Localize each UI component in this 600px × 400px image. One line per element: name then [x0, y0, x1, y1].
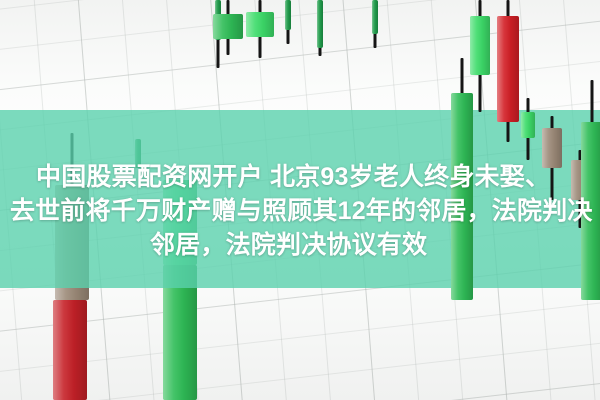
candlestick-body: [317, 0, 323, 48]
candlestick-body: [542, 128, 562, 168]
candlestick-body: [246, 12, 274, 37]
candlestick-body: [521, 112, 535, 138]
candlestick-body: [470, 16, 490, 75]
candlestick: [542, 0, 562, 400]
news-thumbnail-canvas: 中国股票配资网开户 北京93岁老人终身未娶、 去世前将千万财产赠与照顾其12年的…: [0, 0, 600, 400]
candlestick-body: [581, 122, 600, 300]
candlestick-body: [372, 0, 378, 34]
candlestick: [581, 0, 600, 400]
candlestick: [470, 0, 490, 400]
candlestick-body: [285, 0, 291, 30]
candlestick-body: [53, 300, 87, 400]
candlestick-body: [213, 14, 243, 39]
candlestick: [497, 0, 519, 400]
candlestick-body: [497, 16, 519, 122]
candlestick: [521, 0, 535, 400]
